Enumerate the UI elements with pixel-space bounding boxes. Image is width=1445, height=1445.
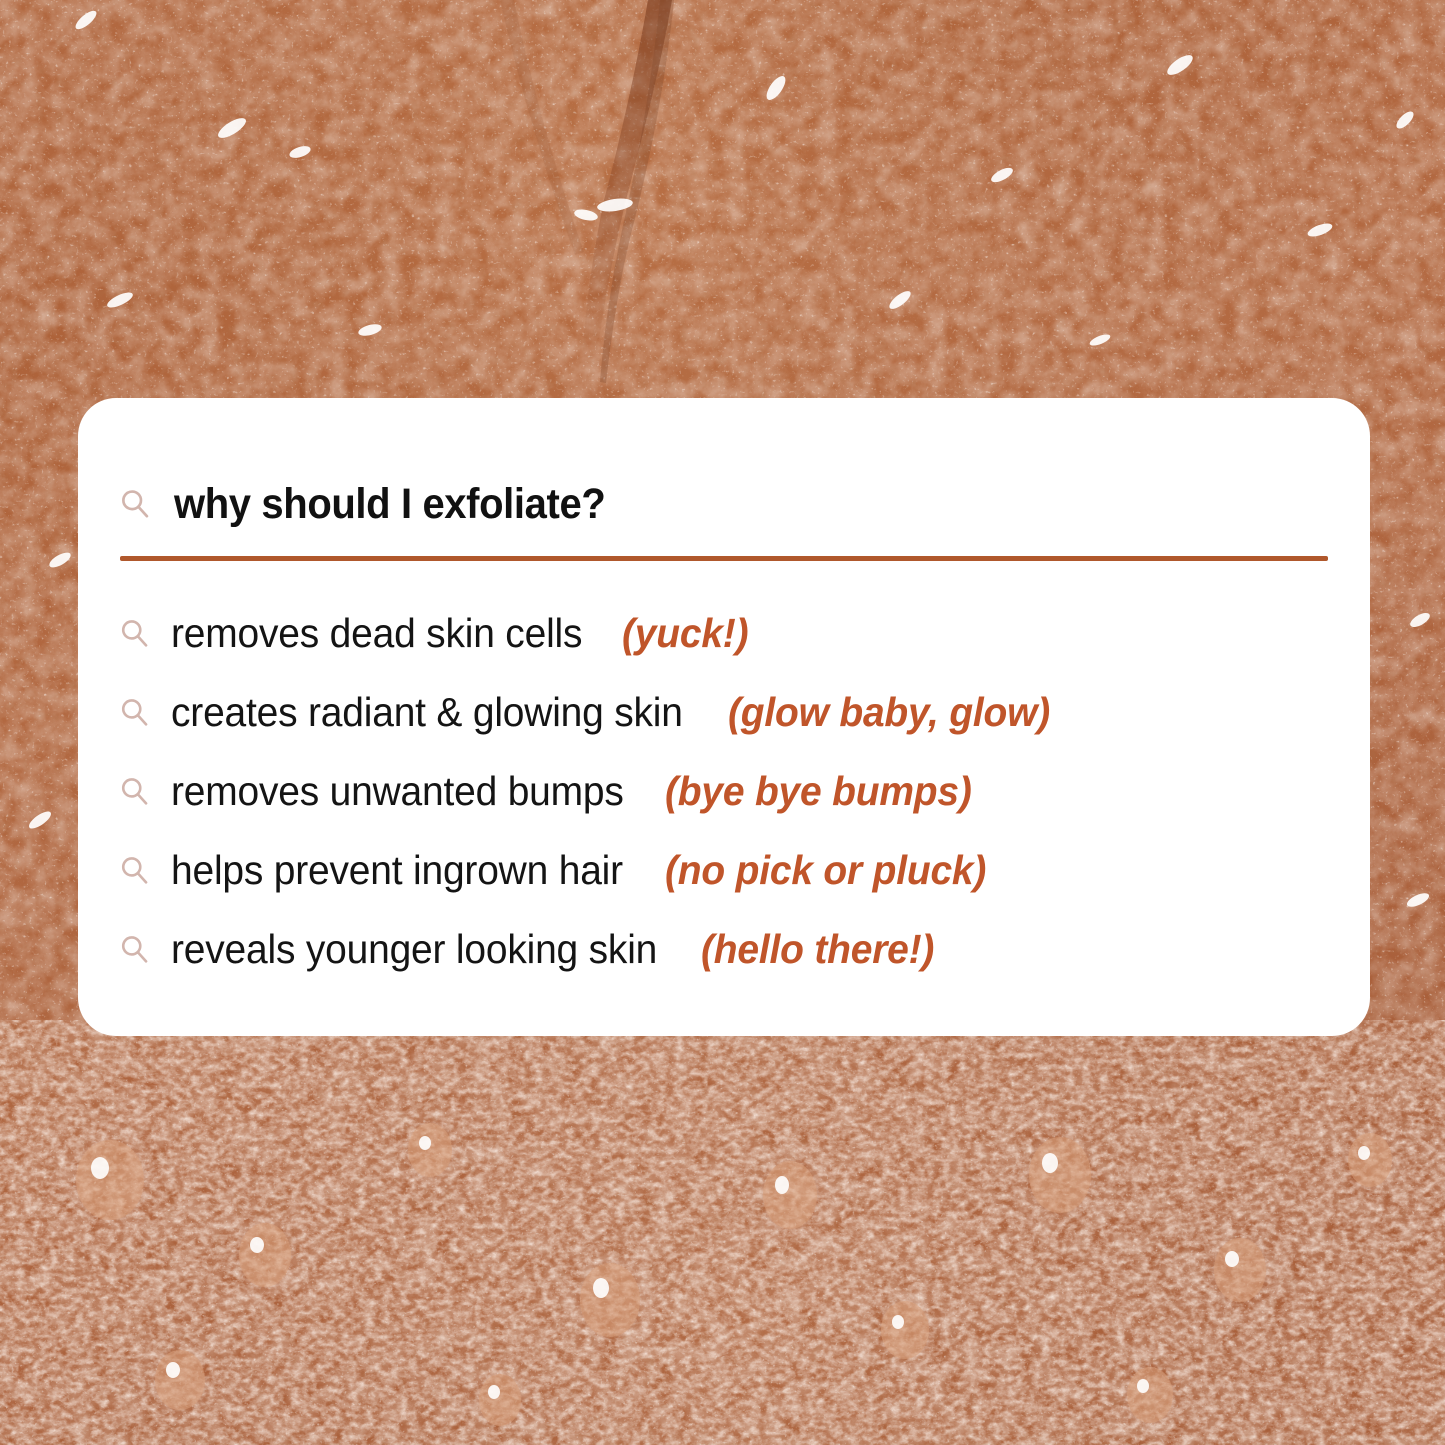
header-divider [120, 556, 1328, 561]
benefit-aside: (glow baby, glow) [728, 692, 1050, 733]
benefit-text: removes unwanted bumps [171, 771, 624, 812]
benefit-text: creates radiant & glowing skin [171, 692, 683, 733]
benefit-aside: (no pick or pluck) [665, 850, 986, 891]
benefit-aside: (hello there!) [701, 929, 934, 970]
benefit-aside: (yuck!) [622, 613, 748, 654]
search-icon [118, 933, 151, 966]
search-icon [118, 617, 151, 650]
search-icon [118, 854, 151, 887]
list-item: removes dead skin cells (yuck!) [118, 594, 1330, 673]
benefit-text: removes dead skin cells [171, 613, 582, 654]
list-item: creates radiant & glowing skin (glow bab… [118, 673, 1330, 752]
list-item: helps prevent ingrown hair (no pick or p… [118, 831, 1330, 910]
search-icon [118, 696, 151, 729]
benefit-aside: (bye bye bumps) [665, 771, 972, 812]
card-header: why should I exfoliate? [118, 476, 638, 532]
list-item: removes unwanted bumps (bye bye bumps) [118, 752, 1330, 831]
search-icon [118, 487, 152, 521]
benefit-text: reveals younger looking skin [171, 929, 657, 970]
page-title: why should I exfoliate? [174, 483, 605, 526]
benefit-text: helps prevent ingrown hair [171, 850, 623, 891]
benefit-list: removes dead skin cells (yuck!) creates … [118, 594, 1330, 989]
faq-card: why should I exfoliate? removes dead ski… [78, 398, 1370, 1036]
search-icon [118, 775, 151, 808]
list-item: reveals younger looking skin (hello ther… [118, 910, 1330, 989]
